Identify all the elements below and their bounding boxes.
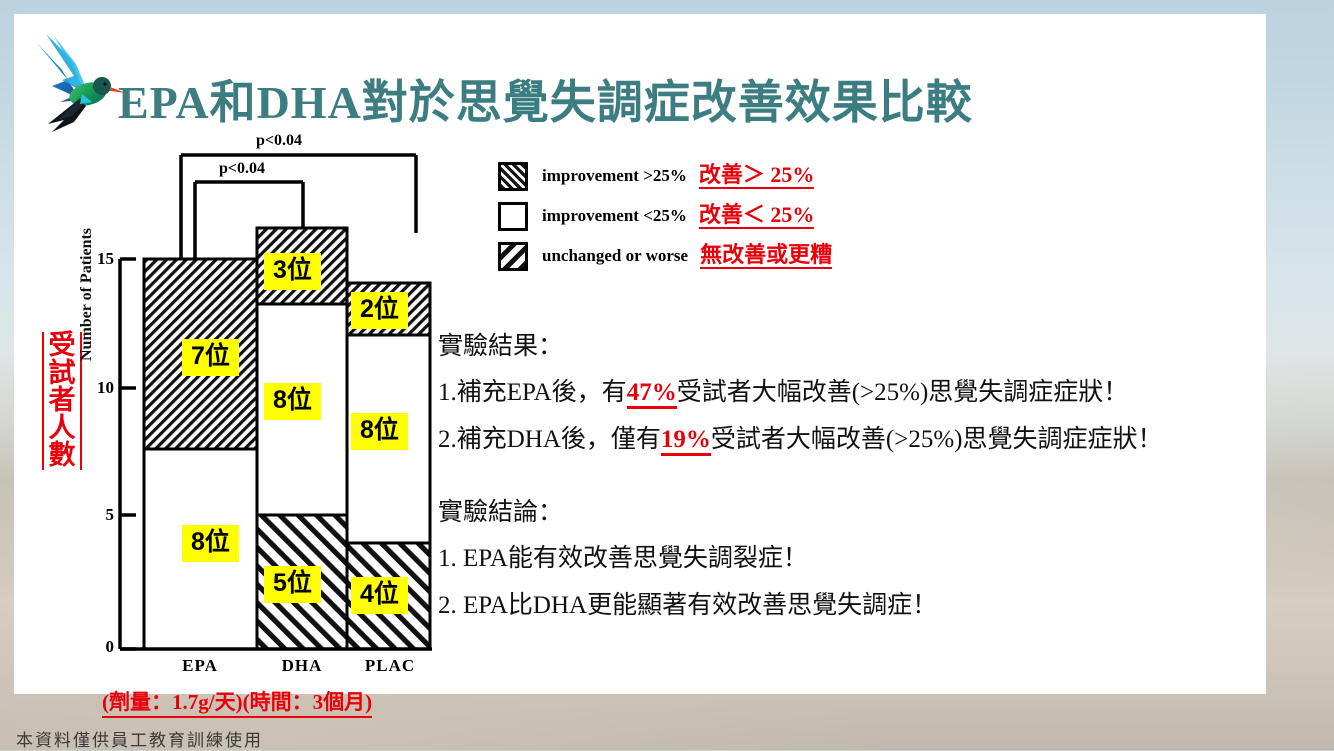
chart-caption: (劑量：1.7g/天)(時間：3個月)	[102, 686, 372, 718]
legend-label-zh-2: 無改善或更糟	[700, 243, 832, 269]
conclusion-heading: 實驗結論：	[438, 498, 1268, 528]
caption-time: (時間：3個月)	[243, 686, 373, 718]
results-block: 實驗結果： 1.補充EPA後，有47%受試者大幅改善(>25%)思覺失調症症狀！…	[438, 332, 1268, 473]
results-line-1-pre: 1.補充EPA後，有	[438, 379, 627, 406]
legend-swatch-plain	[498, 202, 528, 231]
bar-label-dha-mid: 8位	[264, 383, 321, 420]
legend-label-en-1: improvement <25%	[542, 206, 687, 226]
legend-label-zh-0: 改善＞ 25%	[699, 163, 815, 189]
results-line-1-post: 受試者大幅改善(>25%)思覺失調症症狀！	[677, 379, 1129, 406]
footer-note: 本資料僅供員工教育訓練使用	[16, 726, 263, 751]
legend-item-unchanged-or-worse: unchanged or worse 無改善或更糟	[498, 236, 832, 276]
results-line-1-highlight: 47%	[627, 379, 677, 409]
chart-legend: improvement >25% 改善＞ 25% improvement <25…	[498, 156, 832, 276]
conclusion-block: 實驗結論： 1. EPA能有效改善思覺失調裂症！ 2. EPA比DHA更能顯著有…	[438, 498, 1268, 639]
slide-panel: EPA和DHA對於思覺失調症改善效果比較 p<0.04 p<0.04 受試者人數…	[14, 14, 1266, 694]
bar-label-plac-mid: 8位	[351, 413, 408, 450]
results-line-2: 2.補充DHA後，僅有19%受試者大幅改善(>25%)思覺失調症症狀！	[438, 425, 1268, 455]
legend-label-zh-1: 改善＜ 25%	[699, 203, 815, 229]
legend-swatch-forward-hatch	[498, 162, 528, 191]
results-heading: 實驗結果：	[438, 332, 1268, 362]
bar-label-plac-top: 2位	[351, 292, 408, 329]
x-tick-plac: PLAC	[348, 656, 432, 676]
caption-dose: (劑量：1.7g/天)	[102, 686, 243, 718]
bar-label-dha-top: 3位	[264, 253, 321, 290]
stacked-bar-chart: p<0.04 p<0.04 受試者人數 Number of Patients 1…	[14, 14, 454, 714]
conclusion-line-1: 1. EPA能有效改善思覺失調裂症！	[438, 544, 1268, 574]
bar-label-epa-top: 7位	[182, 339, 239, 376]
legend-item-improvement-lt25: improvement <25% 改善＜ 25%	[498, 196, 832, 236]
legend-label-en-2: unchanged or worse	[542, 246, 688, 266]
legend-item-improvement-gt25: improvement >25% 改善＞ 25%	[498, 156, 832, 196]
bar-label-dha-bot: 5位	[264, 566, 321, 603]
legend-label-en-0: improvement >25%	[542, 166, 687, 186]
bar-label-epa-mid: 8位	[182, 525, 239, 562]
results-line-2-highlight: 19%	[661, 426, 711, 456]
results-line-2-post: 受試者大幅改善(>25%)思覺失調症症狀！	[711, 426, 1163, 453]
conclusion-line-2: 2. EPA比DHA更能顯著有效改善思覺失調症！	[438, 591, 1268, 621]
results-line-2-pre: 2.補充DHA後，僅有	[438, 426, 661, 453]
x-tick-epa: EPA	[160, 656, 240, 676]
bar-label-plac-bot: 4位	[351, 577, 408, 614]
x-tick-dha: DHA	[262, 656, 342, 676]
results-line-1: 1.補充EPA後，有47%受試者大幅改善(>25%)思覺失調症症狀！	[438, 378, 1268, 408]
legend-swatch-back-hatch	[498, 242, 528, 271]
